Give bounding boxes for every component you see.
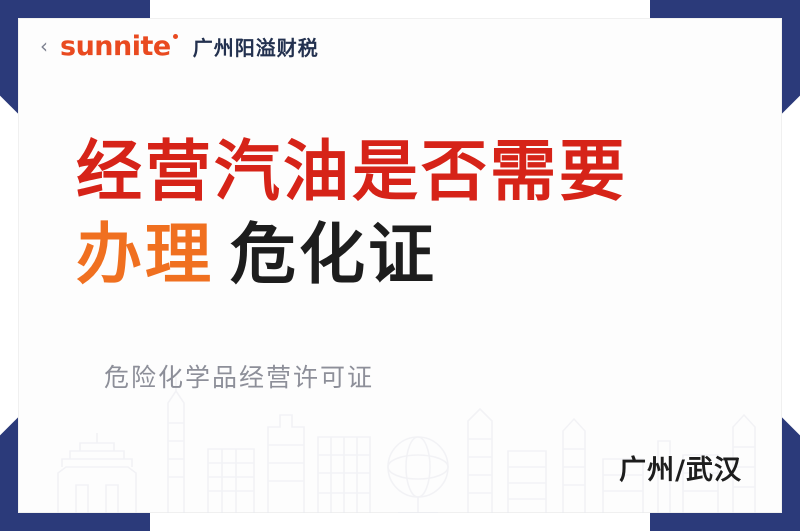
headline-line-2-rest: 危化证: [230, 216, 437, 293]
frame-corner-top-left-horizontal: [0, 0, 150, 18]
logo-text: sunnite: [60, 31, 171, 62]
header: ‹ sunnite 广州阳溢财税: [18, 32, 319, 61]
logo-dot-icon: [173, 34, 178, 39]
brand-name: 广州阳溢财税: [193, 32, 319, 61]
poster-card: ‹ sunnite 广州阳溢财税: [18, 18, 782, 513]
headline-line-1: 经营汽油是否需要: [76, 136, 766, 207]
frame-corner-bottom-left-horizontal: [0, 513, 150, 531]
headline-block: 经营汽油是否需要 办理危化证: [76, 136, 766, 291]
poster-canvas: ‹ sunnite 广州阳溢财税: [0, 0, 800, 531]
sunnite-logo: sunnite: [60, 33, 171, 60]
headline-line-2: 办理危化证: [76, 219, 766, 290]
headline-highlight: 办理: [76, 216, 214, 293]
subtitle: 危险化学品经营许可证: [104, 358, 374, 394]
chevron-left-icon[interactable]: ‹: [40, 36, 48, 56]
frame-corner-top-right-horizontal: [650, 0, 800, 18]
city-label: 广州/武汉: [619, 448, 742, 487]
frame-corner-bottom-right-horizontal: [650, 513, 800, 531]
